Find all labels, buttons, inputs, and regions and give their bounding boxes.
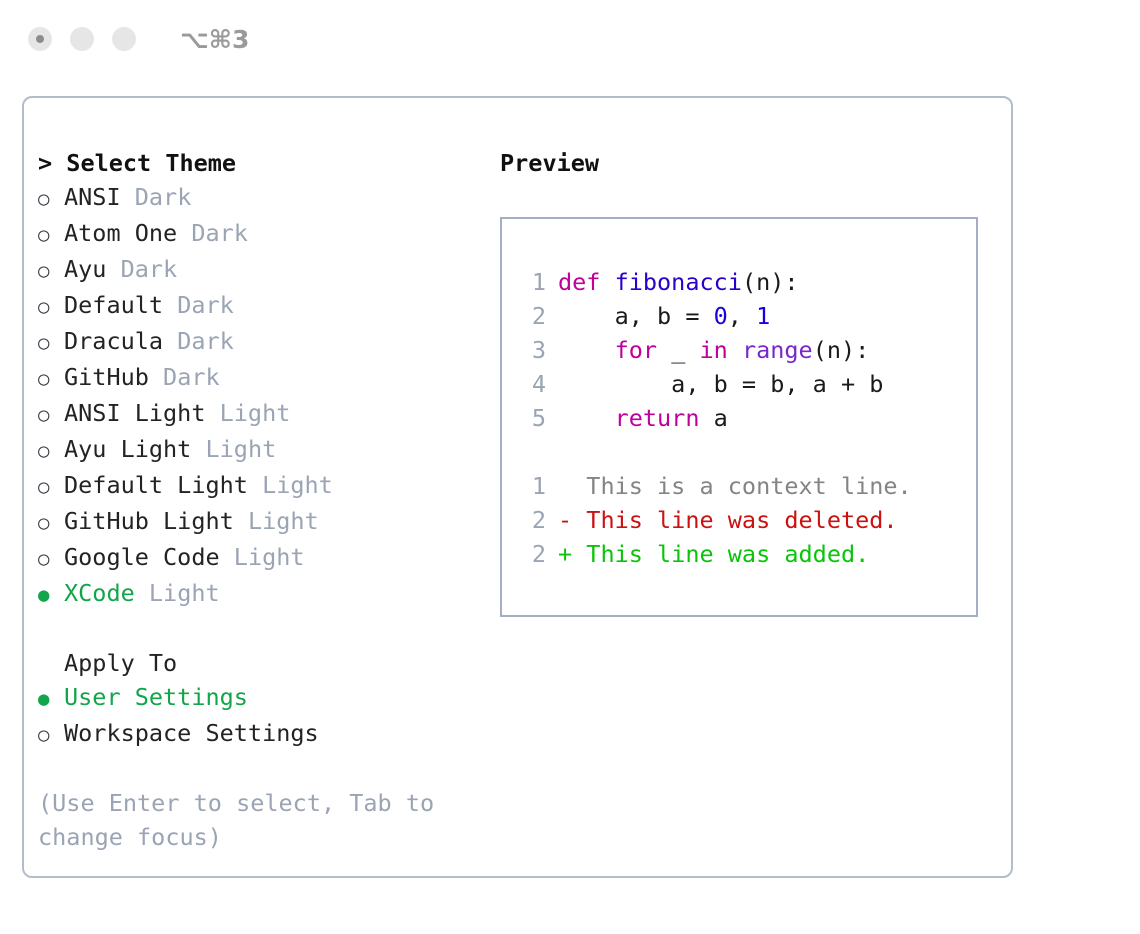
theme-option-ansi[interactable]: ○ANSI Dark (38, 180, 498, 216)
theme-option-ayu[interactable]: ○Ayu Dark (38, 252, 498, 288)
code-line: 1def fibonacci(n): (518, 265, 976, 299)
line-number: 2 (518, 503, 546, 537)
code-token-keyword: in (700, 333, 728, 367)
radio-icon: ○ (38, 254, 64, 288)
apply-to-user-settings[interactable]: ●User Settings (38, 680, 498, 716)
theme-name: ANSI (64, 180, 121, 214)
preview-column: Preview 1def fibonacci(n): 2 a, b = 0, 1… (500, 146, 1000, 617)
window-button-second[interactable] (70, 27, 94, 51)
diff-separator (518, 435, 976, 469)
select-theme-heading: > Select Theme (38, 146, 498, 180)
theme-option-ayu-light[interactable]: ○Ayu Light Light (38, 432, 498, 468)
theme-variant: Dark (177, 324, 234, 358)
apply-to-heading: Apply To (38, 646, 498, 680)
radio-icon: ○ (38, 542, 64, 576)
code-line: 2 a, b = 0, 1 (518, 299, 976, 333)
code-line: 4 a, b = b, a + b (518, 367, 976, 401)
diff-text: This is a context line. (558, 469, 912, 503)
panel-columns: > Select Theme ○ANSI Dark ○Atom One Dark… (24, 98, 1011, 876)
apply-to-label: User Settings (64, 680, 248, 714)
theme-option-default[interactable]: ○Default Dark (38, 288, 498, 324)
line-number: 3 (518, 333, 546, 367)
code-line: 5 return a (518, 401, 976, 435)
theme-variant: Dark (191, 216, 248, 250)
line-number: 4 (518, 367, 546, 401)
theme-name: Atom One (64, 216, 177, 250)
theme-name: Google Code (64, 540, 220, 574)
radio-icon: ○ (38, 326, 64, 360)
code-line: 3 for _ in range(n): (518, 333, 976, 367)
code-token-text: a, b = b, a + b (558, 367, 883, 401)
code-token-text (558, 401, 615, 435)
theme-variant: Light (149, 576, 220, 610)
diff-line-context: 1 This is a context line. (518, 469, 976, 503)
theme-option-default-light[interactable]: ○Default Light Light (38, 468, 498, 504)
code-token-text: (n): (813, 333, 870, 367)
theme-name: Default Light (64, 468, 248, 502)
theme-name: GitHub (64, 360, 149, 394)
keyboard-shortcut-label: ⌥⌘3 (180, 25, 249, 54)
active-indicator-dot (36, 35, 44, 43)
line-number: 1 (518, 469, 546, 503)
code-token-text (728, 333, 742, 367)
theme-name: ANSI Light (64, 396, 205, 430)
radio-icon: ○ (38, 362, 64, 396)
line-number: 2 (518, 299, 546, 333)
app-window: ⌥⌘3 > Select Theme ○ANSI Dark ○Atom One … (0, 0, 1140, 934)
theme-variant: Dark (163, 360, 220, 394)
line-number: 1 (518, 265, 546, 299)
radio-icon: ○ (38, 434, 64, 468)
code-token-text: , (728, 299, 756, 333)
radio-icon: ○ (38, 506, 64, 540)
code-token-text: _ (657, 333, 699, 367)
radio-icon: ○ (38, 182, 64, 216)
hint-spacer (38, 752, 498, 786)
radio-icon: ○ (38, 290, 64, 324)
code-token-keyword: def (558, 265, 615, 299)
theme-variant: Light (262, 468, 333, 502)
radio-icon: ○ (38, 218, 64, 252)
diff-text: + This line was added. (558, 537, 869, 571)
theme-option-atom-one[interactable]: ○Atom One Dark (38, 216, 498, 252)
code-token-text: a (699, 401, 727, 435)
theme-name: XCode (64, 576, 135, 610)
code-token-text: a, b = (558, 299, 714, 333)
diff-line-deleted: 2- This line was deleted. (518, 503, 976, 537)
theme-picker-panel: > Select Theme ○ANSI Dark ○Atom One Dark… (22, 96, 1013, 878)
theme-option-xcode[interactable]: ●XCode Light (38, 576, 498, 612)
radio-icon: ○ (38, 470, 64, 504)
line-number: 5 (518, 401, 546, 435)
code-token-keyword: return (615, 401, 700, 435)
theme-option-github[interactable]: ○GitHub Dark (38, 360, 498, 396)
list-spacer (38, 612, 498, 646)
theme-option-ansi-light[interactable]: ○ANSI Light Light (38, 396, 498, 432)
theme-name: Ayu Light (64, 432, 191, 466)
code-preview-box: 1def fibonacci(n): 2 a, b = 0, 1 3 for _… (500, 217, 978, 617)
code-token-text: (n): (742, 265, 799, 299)
radio-selected-icon: ● (38, 682, 64, 716)
theme-name: Dracula (64, 324, 163, 358)
theme-list-column: > Select Theme ○ANSI Dark ○Atom One Dark… (38, 146, 498, 854)
radio-icon: ○ (38, 718, 64, 752)
theme-variant: Light (248, 504, 319, 538)
window-button-third[interactable] (112, 27, 136, 51)
theme-option-list: ○ANSI Dark ○Atom One Dark ○Ayu Dark ○Def… (38, 180, 498, 612)
window-button-active[interactable] (28, 27, 52, 51)
code-token-call: range (742, 333, 813, 367)
apply-to-label: Workspace Settings (64, 716, 319, 750)
code-preview-content: 1def fibonacci(n): 2 a, b = 0, 1 3 for _… (502, 219, 976, 571)
theme-option-github-light[interactable]: ○GitHub Light Light (38, 504, 498, 540)
theme-name: Default (64, 288, 163, 322)
theme-variant: Dark (121, 252, 178, 286)
theme-variant: Dark (135, 180, 192, 214)
preview-heading: Preview (500, 146, 1000, 180)
theme-variant: Dark (177, 288, 234, 322)
window-controls (28, 27, 136, 51)
code-token-function: fibonacci (615, 265, 742, 299)
theme-name: GitHub Light (64, 504, 234, 538)
radio-icon: ○ (38, 398, 64, 432)
line-number: 2 (518, 537, 546, 571)
diff-line-added: 2+ This line was added. (518, 537, 976, 571)
code-token-keyword: for (615, 333, 657, 367)
code-token-number: 1 (756, 299, 770, 333)
keyboard-hint-text: (Use Enter to select, Tab to change focu… (38, 786, 438, 854)
theme-variant: Light (234, 540, 305, 574)
code-token-text (558, 333, 615, 367)
theme-variant: Light (220, 396, 291, 430)
theme-option-google-code[interactable]: ○Google Code Light (38, 540, 498, 576)
code-token-number: 0 (714, 299, 728, 333)
theme-variant: Light (206, 432, 277, 466)
title-bar: ⌥⌘3 (0, 0, 1140, 78)
radio-selected-icon: ● (38, 578, 64, 612)
theme-option-dracula[interactable]: ○Dracula Dark (38, 324, 498, 360)
apply-to-workspace-settings[interactable]: ○Workspace Settings (38, 716, 498, 752)
theme-name: Ayu (64, 252, 106, 286)
diff-text: - This line was deleted. (558, 503, 898, 537)
